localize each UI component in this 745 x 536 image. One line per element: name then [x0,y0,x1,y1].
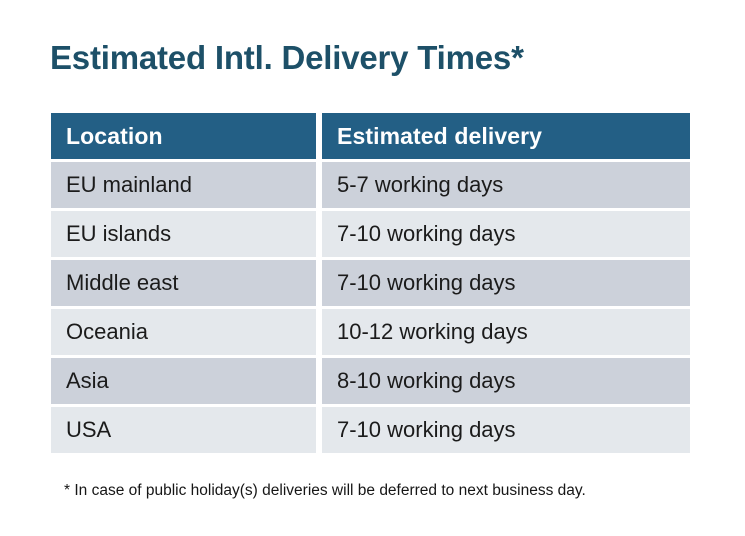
cell-estimated-delivery: 10-12 working days [322,309,690,355]
table-row: Middle east 7-10 working days [51,260,690,306]
delivery-times-card: Estimated Intl. Delivery Times* Location… [0,0,745,536]
cell-estimated-delivery: 5-7 working days [322,162,690,208]
cell-estimated-delivery: 7-10 working days [322,211,690,257]
table-header-row: Location Estimated delivery [51,113,690,159]
table-row: Oceania 10-12 working days [51,309,690,355]
column-header-estimated-delivery: Estimated delivery [322,113,690,159]
page-title: Estimated Intl. Delivery Times* [50,38,524,78]
table-row: EU islands 7-10 working days [51,211,690,257]
footnote-text: * In case of public holiday(s) deliverie… [64,481,586,501]
cell-estimated-delivery: 7-10 working days [322,407,690,453]
cell-location: EU islands [51,211,316,257]
cell-location: Middle east [51,260,316,306]
table-row: Asia 8-10 working days [51,358,690,404]
delivery-times-table: Location Estimated delivery EU mainland … [51,113,690,453]
cell-location: Asia [51,358,316,404]
column-header-location: Location [51,113,316,159]
cell-estimated-delivery: 7-10 working days [322,260,690,306]
table-row: USA 7-10 working days [51,407,690,453]
table-row: EU mainland 5-7 working days [51,162,690,208]
cell-location: USA [51,407,316,453]
cell-location: EU mainland [51,162,316,208]
cell-location: Oceania [51,309,316,355]
cell-estimated-delivery: 8-10 working days [322,358,690,404]
